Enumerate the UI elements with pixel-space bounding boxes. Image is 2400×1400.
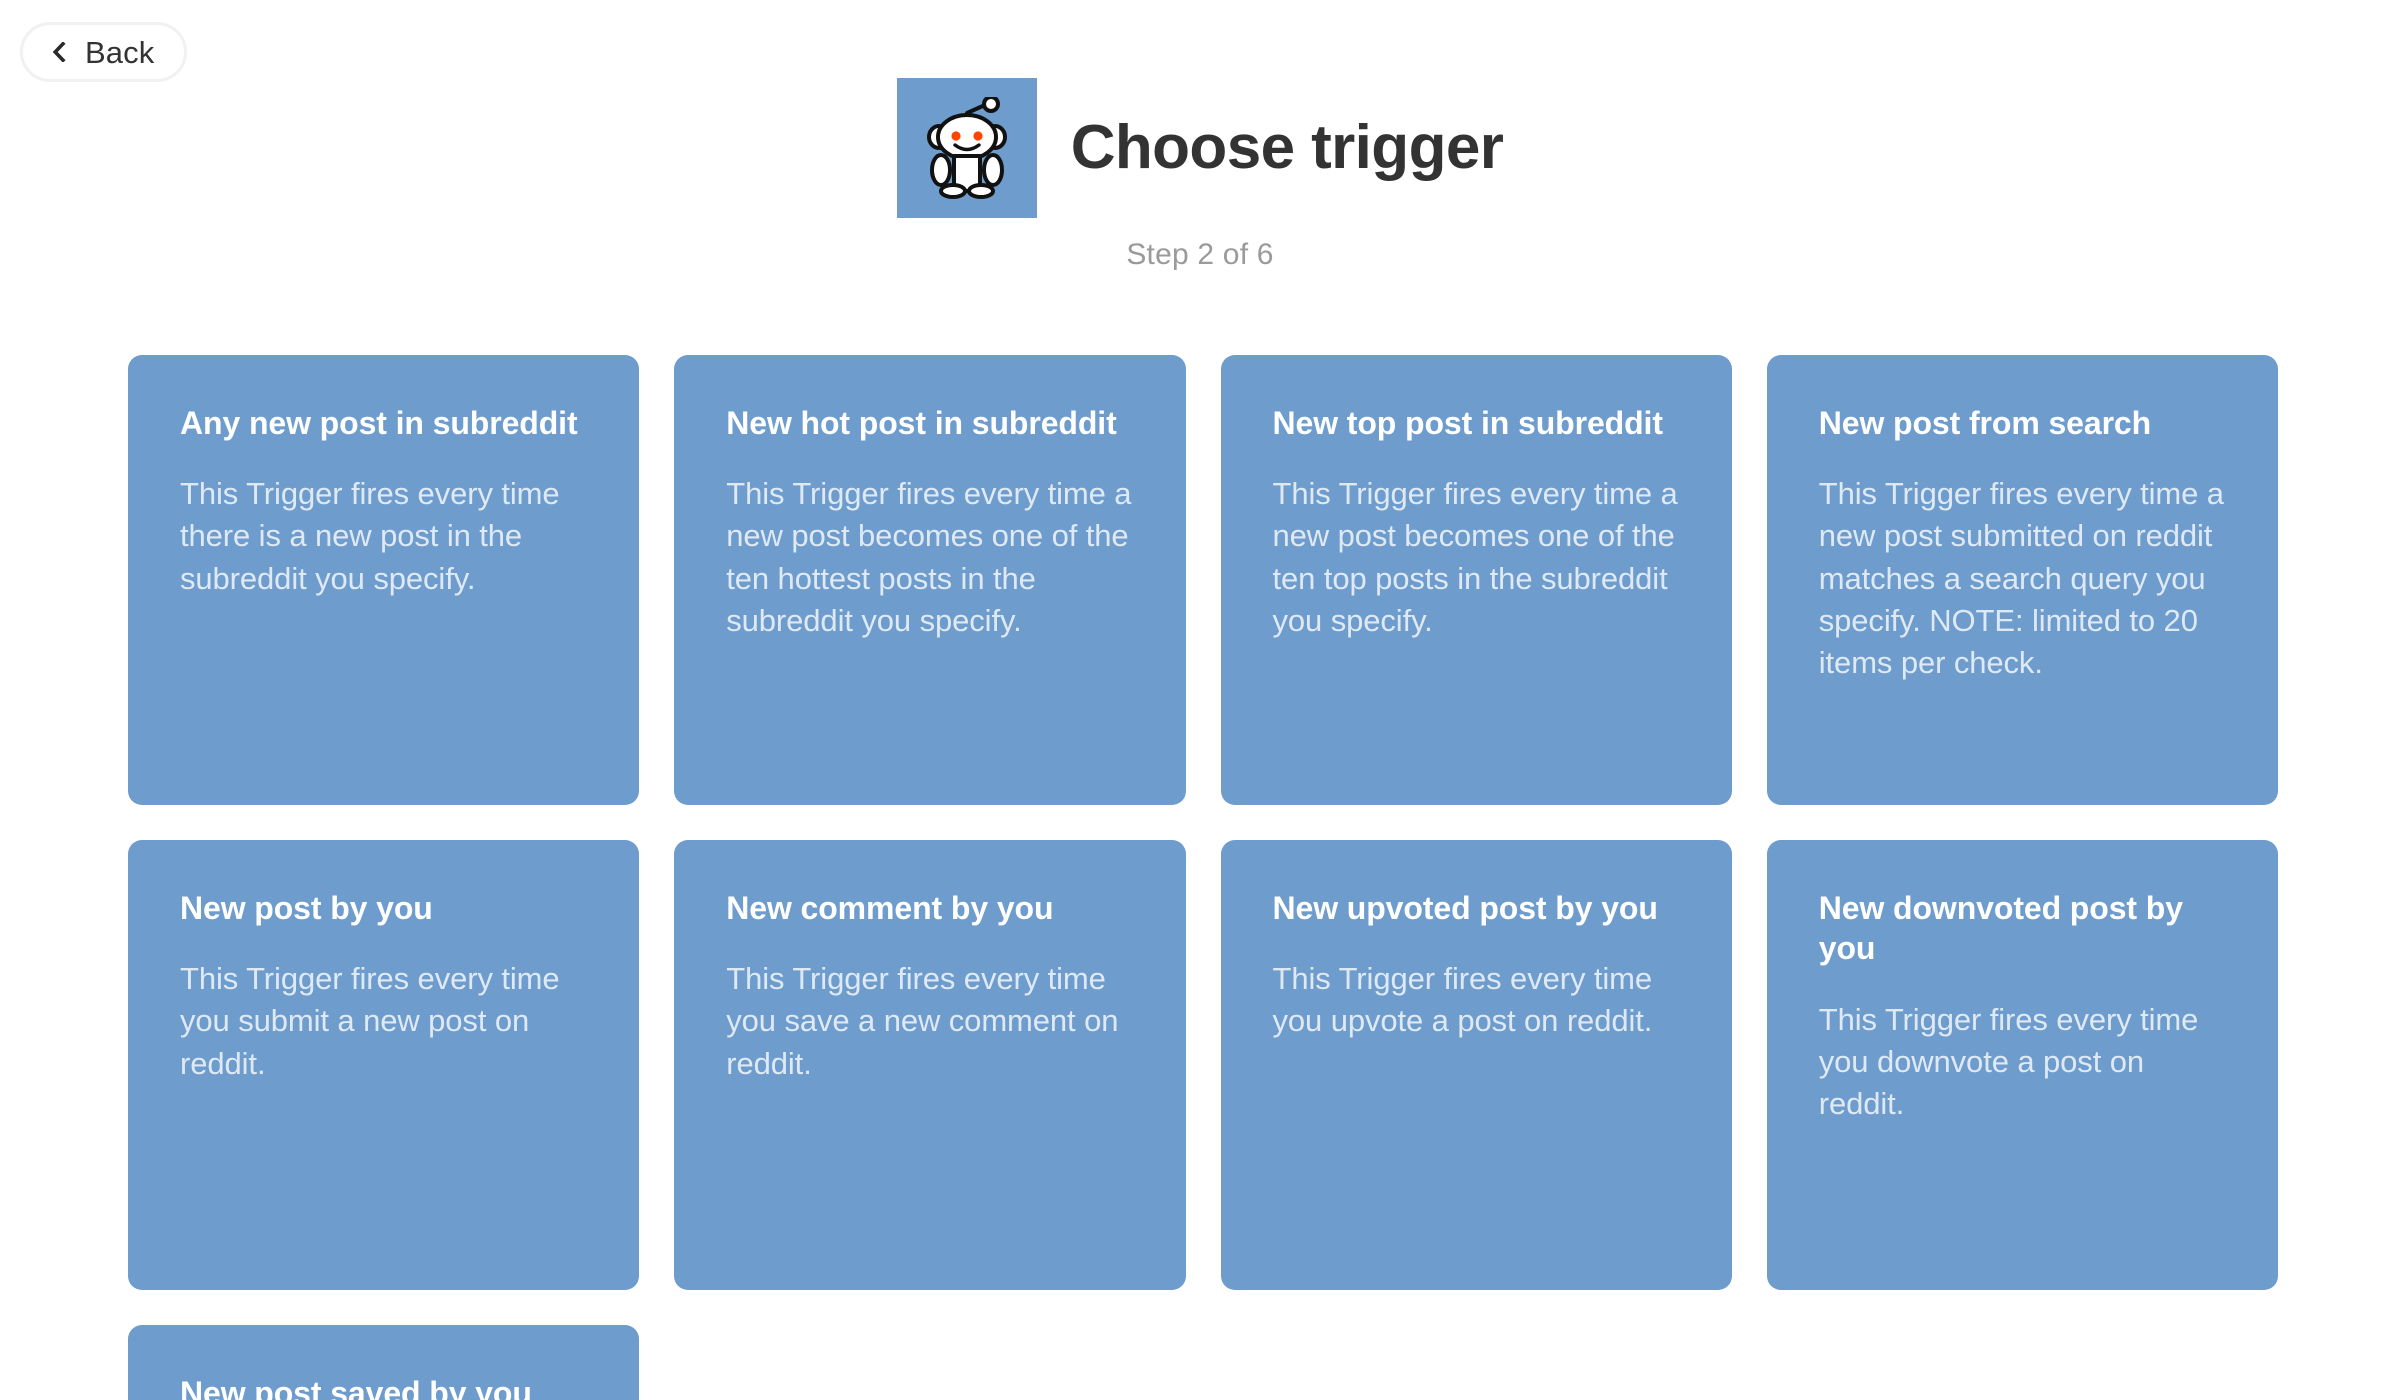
trigger-card-description: This Trigger fires every time a new post… xyxy=(1273,473,1680,642)
trigger-card-title: Any new post in subreddit xyxy=(180,403,587,443)
trigger-card-title: New upvoted post by you xyxy=(1273,888,1680,928)
trigger-card-description: This Trigger fires every time you upvote… xyxy=(1273,958,1680,1042)
trigger-card[interactable]: New top post in subreddit This Trigger f… xyxy=(1221,355,1732,805)
trigger-card-title: New post by you xyxy=(180,888,587,928)
trigger-card[interactable]: New upvoted post by you This Trigger fir… xyxy=(1221,840,1732,1290)
page-title: Choose trigger xyxy=(1071,117,1504,179)
trigger-card[interactable]: New post by you This Trigger fires every… xyxy=(128,840,639,1290)
step-indicator: Step 2 of 6 xyxy=(1126,240,1273,270)
trigger-card-title: New top post in subreddit xyxy=(1273,403,1680,443)
trigger-card-title: New post saved by you xyxy=(180,1373,587,1400)
reddit-snoo-icon xyxy=(897,78,1037,218)
trigger-card-description: This Trigger fires every time you save a… xyxy=(726,958,1133,1084)
trigger-card-title: New comment by you xyxy=(726,888,1133,928)
trigger-card-description: This Trigger fires every time there is a… xyxy=(180,473,587,599)
trigger-card-description: This Trigger fires every time you submit… xyxy=(180,958,587,1084)
trigger-card-description: This Trigger fires every time a new post… xyxy=(726,473,1133,642)
trigger-card[interactable]: Any new post in subreddit This Trigger f… xyxy=(128,355,639,805)
trigger-card-grid: Any new post in subreddit This Trigger f… xyxy=(128,355,2278,1400)
trigger-card-description: This Trigger fires every time you downvo… xyxy=(1819,999,2226,1125)
trigger-card[interactable]: New comment by you This Trigger fires ev… xyxy=(674,840,1185,1290)
choose-trigger-screen: Back xyxy=(0,0,2400,1400)
trigger-card[interactable]: New downvoted post by you This Trigger f… xyxy=(1767,840,2278,1290)
trigger-card[interactable]: New hot post in subreddit This Trigger f… xyxy=(674,355,1185,805)
chevron-left-icon xyxy=(49,42,69,62)
trigger-card[interactable]: New post from search This Trigger fires … xyxy=(1767,355,2278,805)
trigger-card-description: This Trigger fires every time a new post… xyxy=(1819,473,2226,684)
trigger-card-title: New post from search xyxy=(1819,403,2226,443)
header-row: Choose trigger xyxy=(897,78,1504,218)
trigger-card-title: New hot post in subreddit xyxy=(726,403,1133,443)
trigger-card-title: New downvoted post by you xyxy=(1819,888,2226,969)
back-button[interactable]: Back xyxy=(20,22,187,82)
back-button-label: Back xyxy=(85,37,154,68)
trigger-card[interactable]: New post saved by you xyxy=(128,1325,639,1400)
page-header: Choose trigger Step 2 of 6 xyxy=(0,78,2400,270)
